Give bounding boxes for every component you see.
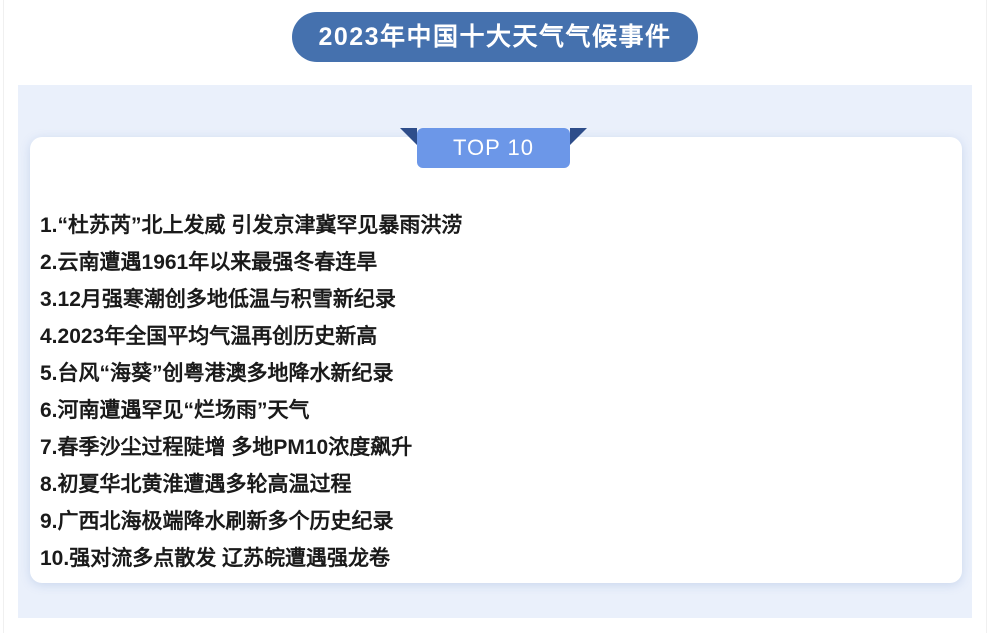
list-item: 8.初夏华北黄淮遭遇多轮高温过程 <box>40 466 940 503</box>
list-item: 10.强对流多点散发 辽苏皖遭遇强龙卷 <box>40 540 940 577</box>
ribbon-body: TOP 10 <box>417 128 570 168</box>
right-edge-rule <box>986 0 987 633</box>
list-item: 1.“杜苏芮”北上发威 引发京津冀罕见暴雨洪涝 <box>40 207 940 244</box>
list-item: 9.广西北海极端降水刷新多个历史纪录 <box>40 503 940 540</box>
ribbon-tail-right-icon <box>570 128 587 145</box>
list-item: 7.春季沙尘过程陡增 多地PM10浓度飙升 <box>40 429 940 466</box>
page-title: 2023年中国十大天气气候事件 <box>318 25 671 50</box>
event-list: 1.“杜苏芮”北上发威 引发京津冀罕见暴雨洪涝 2.云南遭遇1961年以来最强冬… <box>40 207 940 577</box>
top-10-ribbon: TOP 10 <box>417 128 570 168</box>
left-edge-rule <box>3 0 4 633</box>
list-item: 4.2023年全国平均气温再创历史新高 <box>40 318 940 355</box>
list-item: 3.12月强寒潮创多地低温与积雪新纪录 <box>40 281 940 318</box>
list-item: 5.台风“海葵”创粤港澳多地降水新纪录 <box>40 355 940 392</box>
poster-page: 2023年中国十大天气气候事件 TOP 10 1.“杜苏芮”北上发威 引发京津冀… <box>0 0 990 633</box>
ribbon-tail-left-icon <box>400 128 417 145</box>
list-item: 6.河南遭遇罕见“烂场雨”天气 <box>40 392 940 429</box>
list-item: 2.云南遭遇1961年以来最强冬春连旱 <box>40 244 940 281</box>
ribbon-label: TOP 10 <box>453 137 534 159</box>
title-banner: 2023年中国十大天气气候事件 <box>292 12 698 62</box>
